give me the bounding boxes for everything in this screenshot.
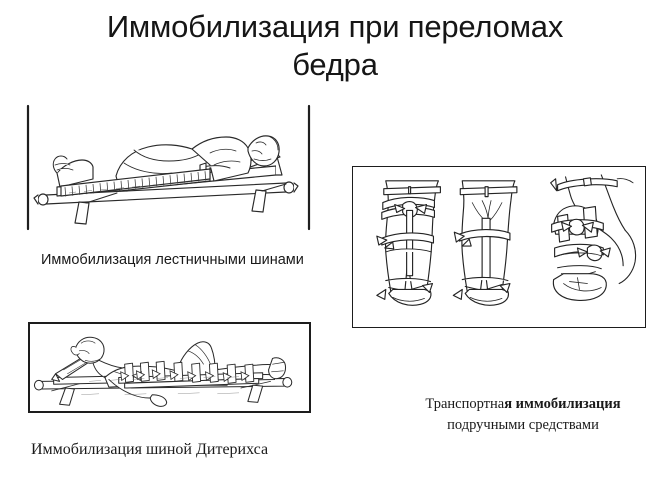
figure-ladder-splints: [24, 103, 316, 233]
improvised-means-illustration: [353, 167, 645, 327]
caption-improvised-means-line-1: Транспортная иммобилизация: [398, 394, 648, 415]
page-title: Иммобилизация при переломах бедра: [0, 8, 670, 84]
caption-improvised-means: Транспортная иммобилизация подручными ср…: [398, 394, 648, 436]
dieterichs-splint-illustration: [30, 324, 309, 411]
caption-improvised-means-line-2: подручными средствами: [398, 415, 648, 436]
figure-dieterichs-splint: [28, 322, 311, 413]
caption-improvised-means-line-1-emphasis: я иммобилизация: [504, 396, 620, 412]
page-title-line-1: Иммобилизация при переломах: [0, 8, 670, 46]
caption-improvised-means-line-1-prefix: Транспортна: [425, 396, 504, 412]
figure-improvised-means: [352, 166, 646, 328]
caption-ladder-splints: Иммобилизация лестничными шинами: [41, 251, 304, 269]
caption-dieterichs-splint: Иммобилизация шиной Дитерихса: [31, 440, 268, 460]
ladder-splints-illustration: [24, 103, 316, 233]
page-title-line-2: бедра: [0, 46, 670, 84]
